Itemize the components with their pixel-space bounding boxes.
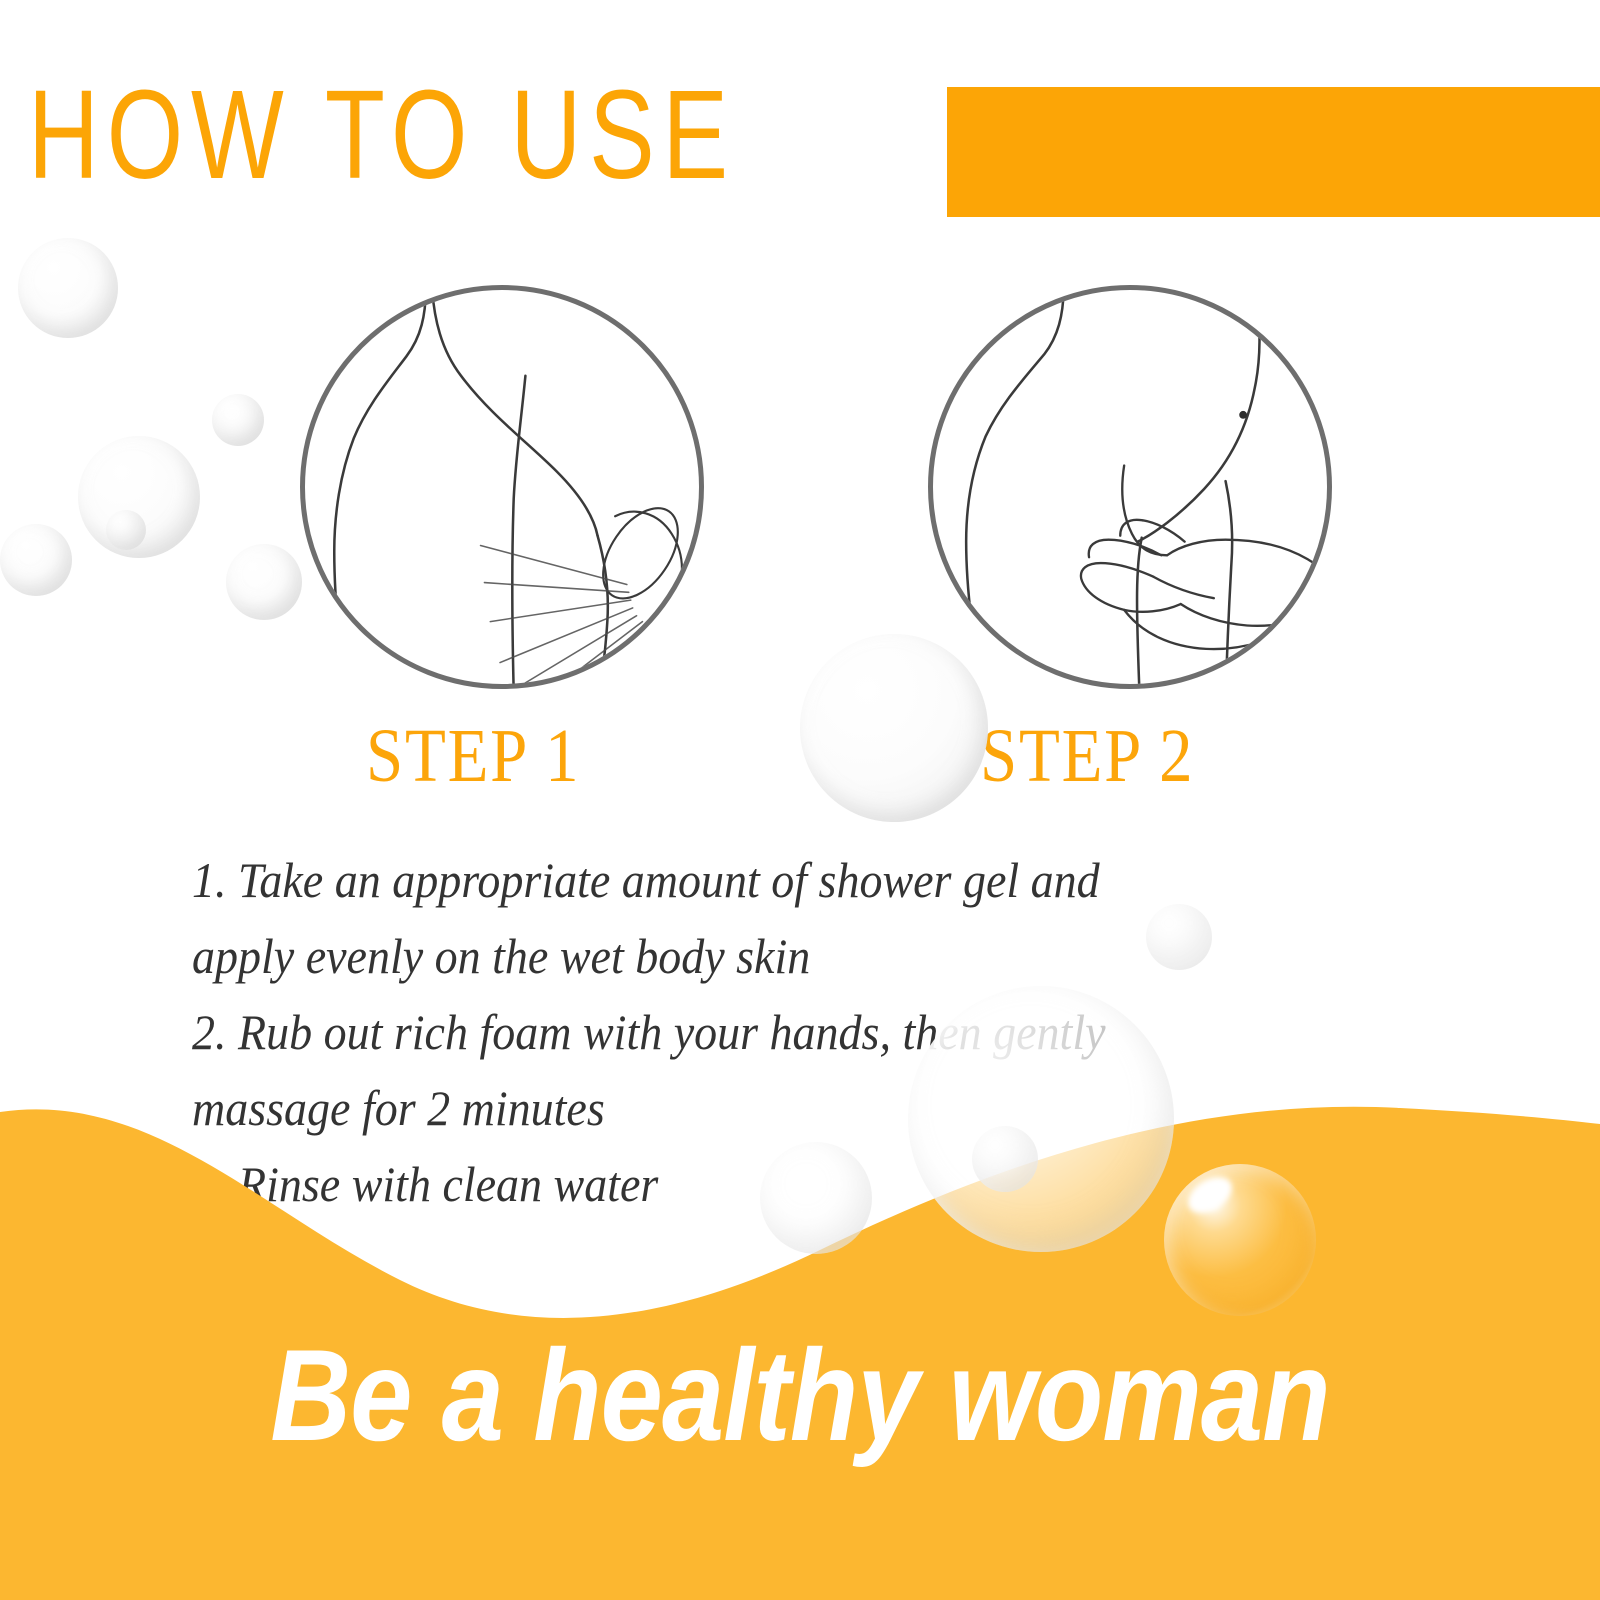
bubble <box>0 524 72 596</box>
bubble <box>18 238 118 338</box>
bubble <box>78 436 200 558</box>
bubble <box>106 510 146 550</box>
footer-tagline: Be a healthy woman <box>112 1330 1488 1460</box>
step-2-label: STEP 2 <box>980 718 1194 794</box>
bubble <box>226 544 302 620</box>
step-2-illustration <box>928 285 1332 689</box>
page-title: HOW TO USE <box>28 72 736 198</box>
header-accent-bar <box>947 87 1600 217</box>
how-to-use-infographic: HOW TO USE <box>0 0 1600 1600</box>
instruction-line: apply evenly on the wet body skin <box>192 918 1278 994</box>
instruction-line: 1. Take an appropriate amount of shower … <box>192 842 1278 918</box>
step-1-label: STEP 1 <box>366 718 580 794</box>
step-1-illustration <box>300 285 704 689</box>
woman-shower-back-line-art <box>305 290 699 684</box>
instruction-line: 2. Rub out rich foam with your hands, th… <box>192 994 1278 1070</box>
hand-holding-gel-line-art <box>933 290 1327 684</box>
bubble <box>212 394 264 446</box>
